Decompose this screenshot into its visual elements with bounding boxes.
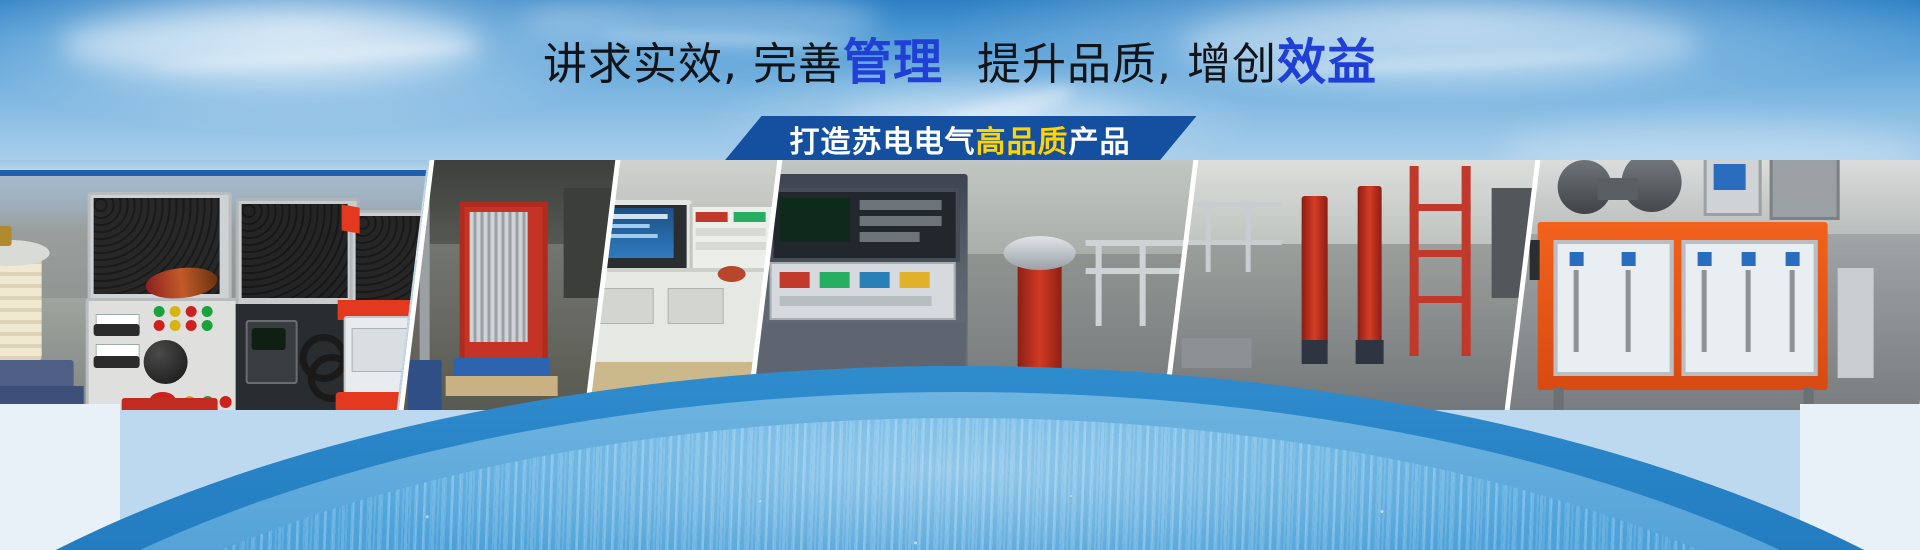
photo-panel-6[interactable] [1509,160,1920,410]
photo-panel-1[interactable] [0,160,427,410]
headline-part-1: 讲求实效, 完善 [543,39,843,90]
photo-2-image [399,160,616,410]
photo-6-image [1509,160,1920,410]
banner-stage: 讲求实效, 完善管理提升品质, 增创效益 打造苏电电气高品质产品 [0,0,1920,550]
ribbon-prefix: 打造苏电电气 [790,117,976,161]
photo-panel-2[interactable] [399,160,616,410]
banner-headline: 讲求实效, 完善管理提升品质, 增创效益 [0,38,1920,87]
slogan-ribbon: 打造苏电电气高品质产品 [724,116,1197,162]
ribbon-wrapper: 打造苏电电气高品质产品 [0,116,1920,166]
photo-5-image [1167,160,1538,410]
photo-1-image [0,160,427,410]
headline-accent-1: 管理 [843,34,943,91]
ribbon-suffix: 产品 [1069,117,1131,161]
photo-panel-5[interactable] [1167,160,1538,410]
headline-part-2: 提升品质, 增创 [977,39,1277,90]
ribbon-highlight: 高品质 [976,117,1069,161]
headline-accent-2: 效益 [1277,34,1377,91]
